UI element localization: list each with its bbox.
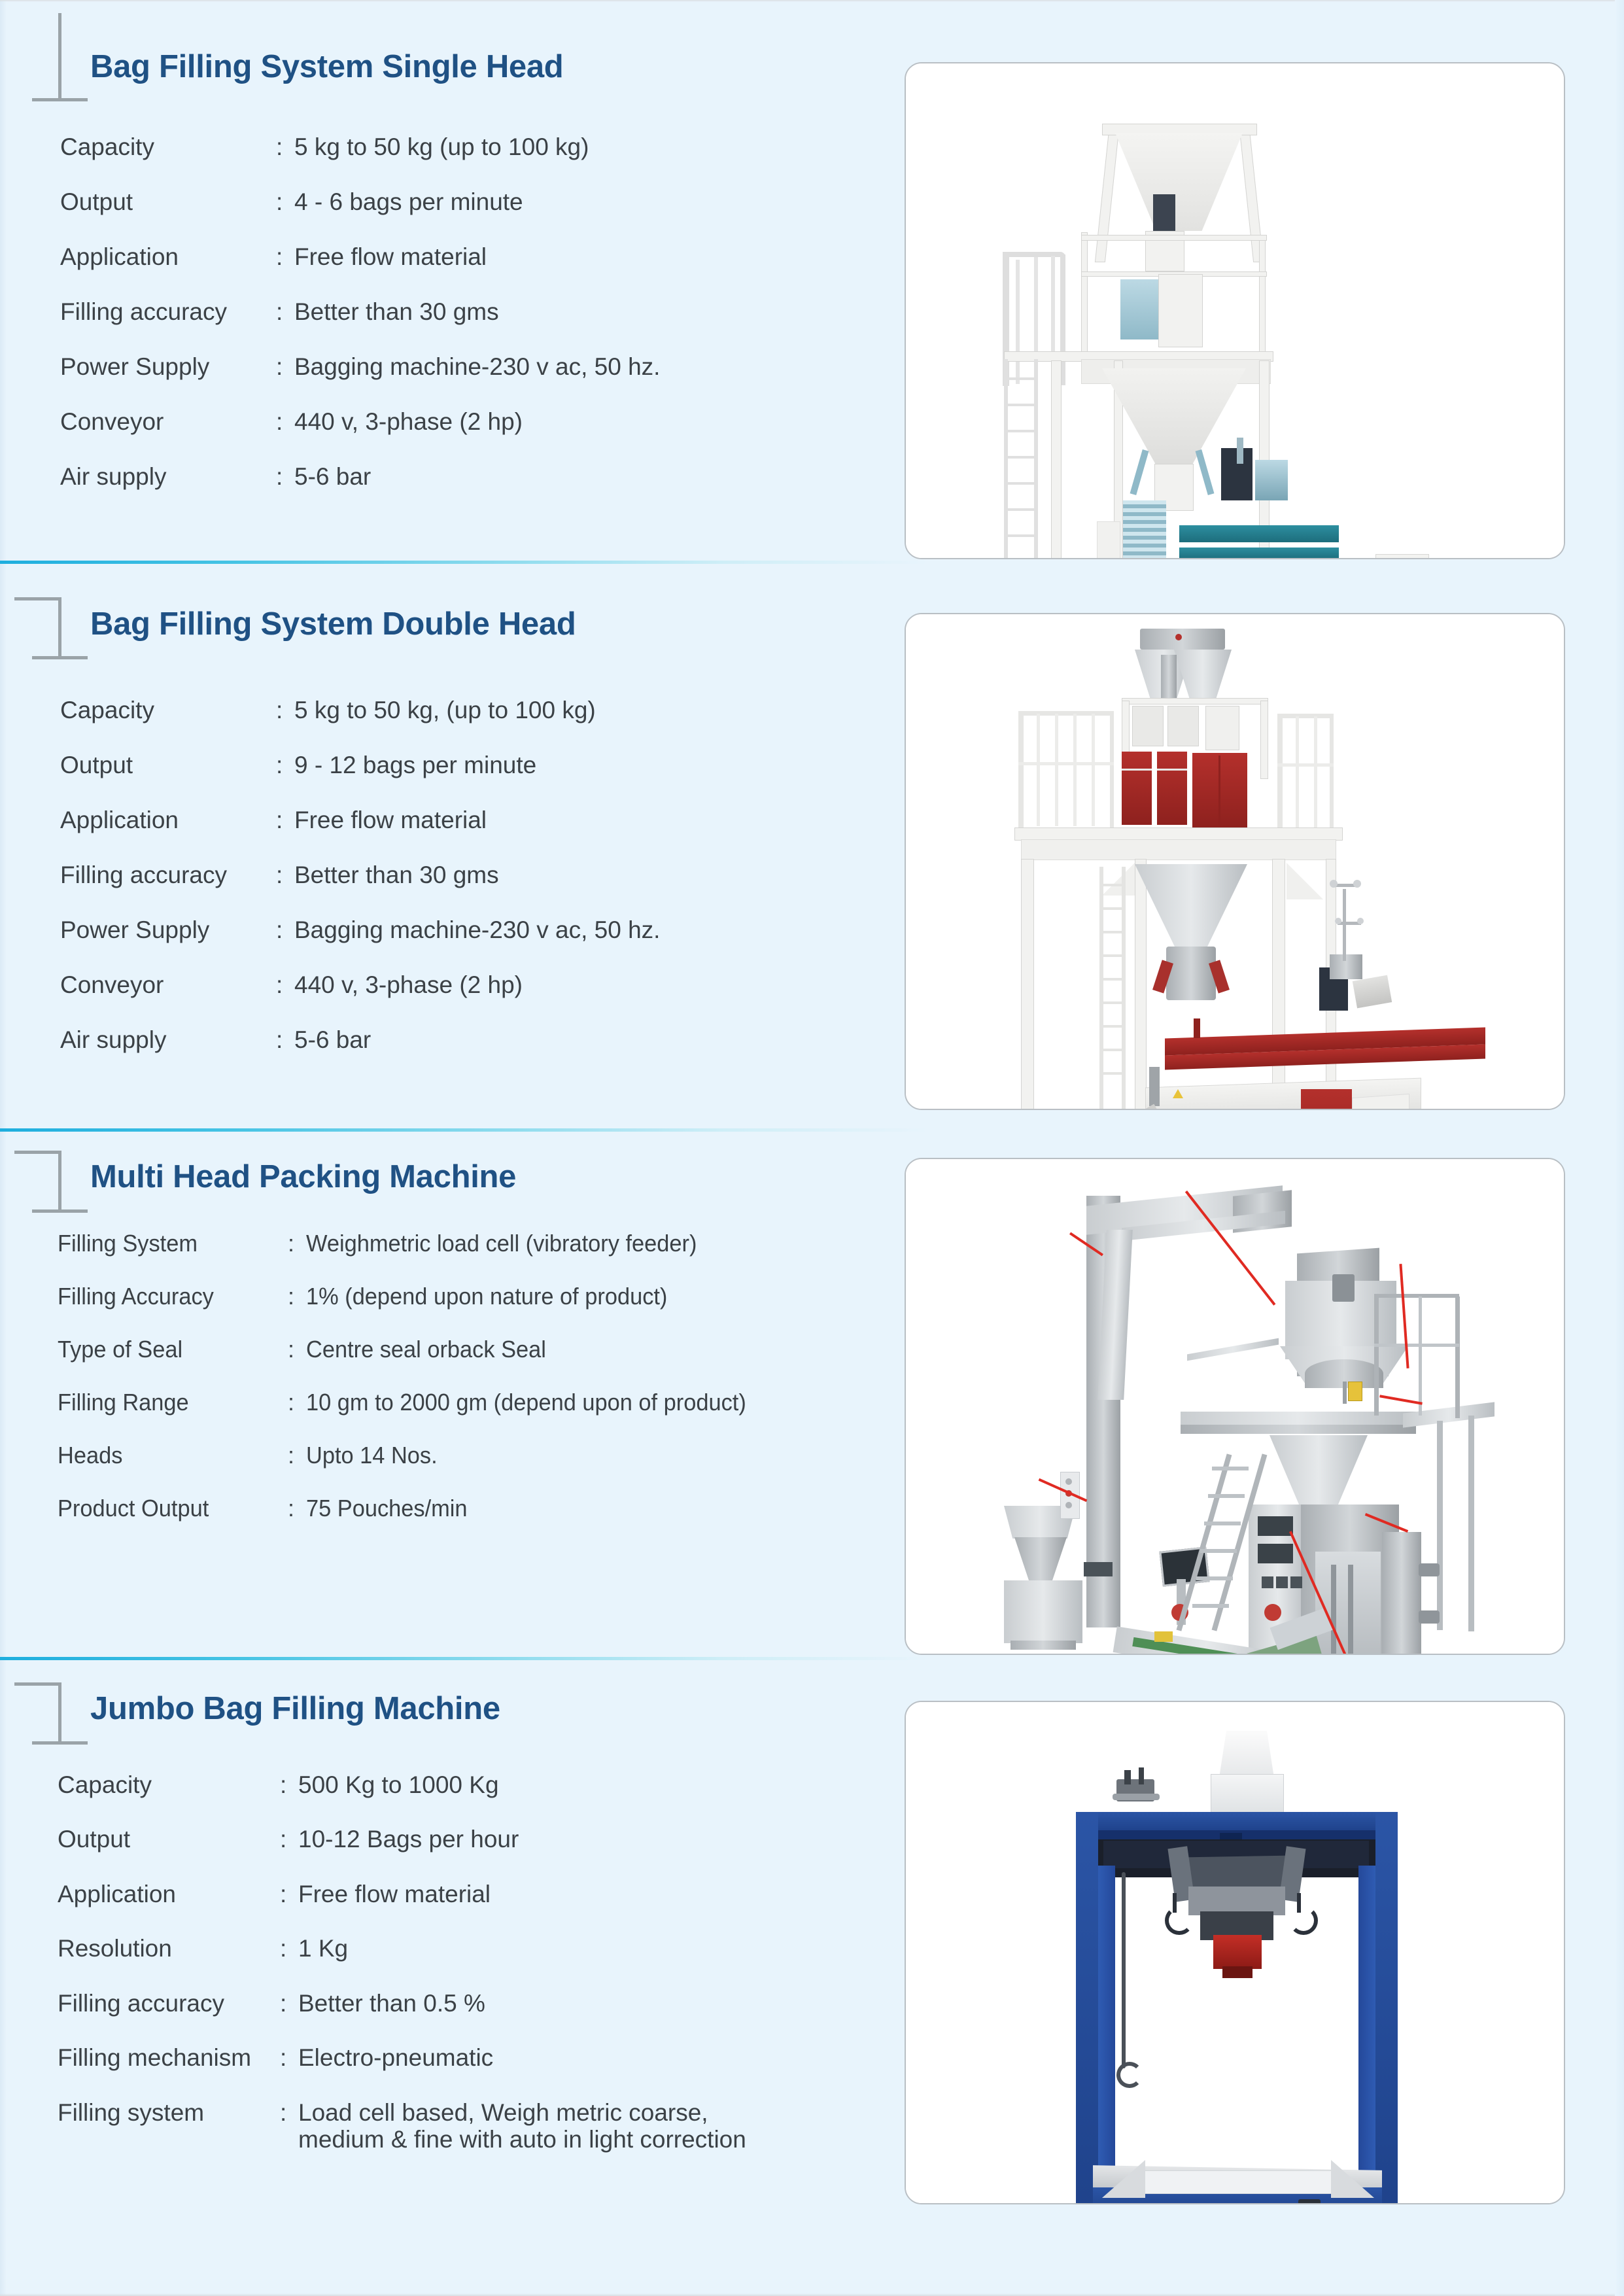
product-image-card bbox=[905, 613, 1565, 1110]
section-title: Bag Filling System Double Head bbox=[90, 608, 576, 640]
spec-value: Weighmetric load cell (vibratory feeder) bbox=[306, 1232, 924, 1255]
spec-colon: : bbox=[288, 1338, 306, 1361]
product-photo-multi-head bbox=[906, 1159, 1564, 1654]
spec-row: Filling Range : 10 gm to 2000 gm (depend… bbox=[58, 1391, 954, 1414]
spec-label: Air supply bbox=[60, 464, 276, 489]
spec-value: Bagging machine-230 v ac, 50 hz. bbox=[294, 918, 956, 942]
spec-value: 5 kg to 50 kg, (up to 100 kg) bbox=[294, 698, 956, 722]
page-top-hairline bbox=[0, 0, 1624, 2]
spec-row: Capacity : 500 Kg to 1000 Kg bbox=[58, 1771, 954, 1798]
spec-label: Filling accuracy bbox=[58, 1990, 280, 2017]
corner-bracket-icon bbox=[14, 1151, 93, 1216]
spec-row: Filling accuracy : Better than 30 gms bbox=[60, 863, 956, 887]
spec-label: Filling accuracy bbox=[60, 300, 276, 324]
spec-colon: : bbox=[276, 808, 294, 832]
spec-colon: : bbox=[280, 1771, 298, 1798]
spec-row: Type of Seal : Centre seal orback Seal bbox=[58, 1338, 954, 1361]
spec-value: Free flow material bbox=[298, 1881, 954, 1907]
spec-label: Filling System bbox=[58, 1232, 277, 1255]
spec-colon: : bbox=[276, 698, 294, 722]
spec-colon: : bbox=[280, 2099, 298, 2126]
corner-bracket-icon bbox=[14, 1682, 93, 1748]
product-image-card bbox=[905, 62, 1565, 559]
spec-colon: : bbox=[276, 135, 294, 159]
page-bottom-hairline bbox=[0, 2293, 1624, 2296]
spec-label: Output bbox=[60, 190, 276, 214]
spec-label: Product Output bbox=[58, 1497, 277, 1520]
spec-colon: : bbox=[288, 1391, 306, 1414]
spec-row: Heads : Upto 14 Nos. bbox=[58, 1444, 954, 1467]
spec-label: Power Supply bbox=[60, 918, 276, 942]
spec-row: Filling System : Weighmetric load cell (… bbox=[58, 1232, 954, 1255]
spec-label: Filling Accuracy bbox=[58, 1285, 277, 1308]
corner-bracket-icon bbox=[14, 597, 93, 663]
spec-row: Power Supply : Bagging machine-230 v ac,… bbox=[60, 918, 956, 942]
spec-label: Filling mechanism bbox=[58, 2044, 280, 2071]
spec-label: Filling Range bbox=[58, 1391, 277, 1414]
spec-label: Power Supply bbox=[60, 355, 276, 379]
spec-value: 440 v, 3-phase (2 hp) bbox=[294, 973, 956, 997]
spec-row: Application : Free flow material bbox=[58, 1881, 954, 1907]
spec-row: Conveyor : 440 v, 3-phase (2 hp) bbox=[60, 973, 956, 997]
spec-value: 5 kg to 50 kg (up to 100 kg) bbox=[294, 135, 956, 159]
spec-label: Output bbox=[60, 753, 276, 777]
spec-row: Output : 9 - 12 bags per minute bbox=[60, 753, 956, 777]
spec-list: Filling System : Weighmetric load cell (… bbox=[58, 1232, 954, 1550]
spec-row: Filling accuracy : Better than 0.5 % bbox=[58, 1990, 954, 2017]
spec-colon: : bbox=[276, 464, 294, 489]
spec-row: Capacity : 5 kg to 50 kg, (up to 100 kg) bbox=[60, 698, 956, 722]
spec-label: Capacity bbox=[60, 698, 276, 722]
spec-label: Conveyor bbox=[60, 973, 276, 997]
spec-value: Electro-pneumatic bbox=[298, 2044, 954, 2071]
section-separator bbox=[0, 1657, 929, 1660]
spec-label: Filling system bbox=[58, 2099, 280, 2126]
spec-label: Heads bbox=[58, 1444, 277, 1467]
spec-label: Output bbox=[58, 1826, 280, 1852]
spec-colon: : bbox=[280, 1935, 298, 1962]
spec-row: Air supply : 5-6 bar bbox=[60, 1028, 956, 1052]
spec-value: 75 Pouches/min bbox=[306, 1497, 924, 1520]
spec-colon: : bbox=[276, 918, 294, 942]
spec-label: Capacity bbox=[60, 135, 276, 159]
spec-list: Capacity : 5 kg to 50 kg, (up to 100 kg)… bbox=[60, 698, 956, 1083]
spec-colon: : bbox=[276, 190, 294, 214]
spec-row: Conveyor : 440 v, 3-phase (2 hp) bbox=[60, 409, 956, 434]
spec-row: Filling accuracy : Better than 30 gms bbox=[60, 300, 956, 324]
spec-colon: : bbox=[276, 300, 294, 324]
spec-row: Output : 4 - 6 bags per minute bbox=[60, 190, 956, 214]
spec-value: 5-6 bar bbox=[294, 1028, 956, 1052]
spec-colon: : bbox=[288, 1497, 306, 1520]
section-separator bbox=[0, 1128, 929, 1132]
product-image-card bbox=[905, 1701, 1565, 2204]
spec-colon: : bbox=[280, 1881, 298, 1907]
spec-row: Power Supply : Bagging machine-230 v ac,… bbox=[60, 355, 956, 379]
spec-colon: : bbox=[276, 245, 294, 269]
spec-list: Capacity : 500 Kg to 1000 Kg Output : 10… bbox=[58, 1771, 954, 2181]
spec-row: Product Output : 75 Pouches/min bbox=[58, 1497, 954, 1520]
spec-label: Conveyor bbox=[60, 409, 276, 434]
spec-row: Output : 10-12 Bags per hour bbox=[58, 1826, 954, 1852]
spec-value: 1 Kg bbox=[298, 1935, 954, 1962]
spec-value: 4 - 6 bags per minute bbox=[294, 190, 956, 214]
corner-bracket-icon bbox=[14, 39, 93, 105]
product-image-card bbox=[905, 1158, 1565, 1655]
spec-value: 9 - 12 bags per minute bbox=[294, 753, 956, 777]
spec-colon: : bbox=[288, 1232, 306, 1255]
spec-label: Filling accuracy bbox=[60, 863, 276, 887]
spec-colon: : bbox=[288, 1285, 306, 1308]
spec-label: Application bbox=[60, 808, 276, 832]
spec-value: 5-6 bar bbox=[294, 464, 956, 489]
section-title: Jumbo Bag Filling Machine bbox=[90, 1693, 500, 1725]
spec-label: Type of Seal bbox=[58, 1338, 277, 1361]
spec-value: Free flow material bbox=[294, 808, 956, 832]
spec-label: Capacity bbox=[58, 1771, 280, 1798]
spec-row: Application : Free flow material bbox=[60, 245, 956, 269]
spec-colon: : bbox=[280, 1826, 298, 1852]
spec-row: Filling Accuracy : 1% (depend upon natur… bbox=[58, 1285, 954, 1308]
spec-colon: : bbox=[276, 409, 294, 434]
spec-row: Filling mechanism : Electro-pneumatic bbox=[58, 2044, 954, 2071]
spec-value: Better than 0.5 % bbox=[298, 1990, 954, 2017]
spec-colon: : bbox=[276, 355, 294, 379]
spec-value: Better than 30 gms bbox=[294, 300, 956, 324]
spec-row: Capacity : 5 kg to 50 kg (up to 100 kg) bbox=[60, 135, 956, 159]
spec-value: 10-12 Bags per hour bbox=[298, 1826, 954, 1852]
page-title: Bag Filling System Single Head bbox=[90, 51, 563, 83]
spec-row: Filling system : Load cell based, Weigh … bbox=[58, 2099, 954, 2153]
spec-value: Free flow material bbox=[294, 245, 956, 269]
spec-value: 440 v, 3-phase (2 hp) bbox=[294, 409, 956, 434]
spec-value: 10 gm to 2000 gm (depend upon of product… bbox=[306, 1391, 924, 1414]
product-photo-single-head bbox=[906, 63, 1564, 558]
spec-colon: : bbox=[280, 1990, 298, 2017]
spec-row: Air supply : 5-6 bar bbox=[60, 464, 956, 489]
spec-list: Capacity : 5 kg to 50 kg (up to 100 kg) … bbox=[60, 135, 956, 519]
spec-row: Resolution : 1 Kg bbox=[58, 1935, 954, 1962]
spec-value: Upto 14 Nos. bbox=[306, 1444, 924, 1467]
spec-colon: : bbox=[276, 1028, 294, 1052]
spec-label: Application bbox=[58, 1881, 280, 1907]
section-separator bbox=[0, 561, 929, 564]
spec-value: 1% (depend upon nature of product) bbox=[306, 1285, 924, 1308]
spec-value: Better than 30 gms bbox=[294, 863, 956, 887]
catalog-page: Bag Filling System Single Head Capacity … bbox=[0, 0, 1624, 2296]
spec-value: 500 Kg to 1000 Kg bbox=[298, 1771, 954, 1798]
spec-colon: : bbox=[276, 863, 294, 887]
spec-colon: : bbox=[276, 753, 294, 777]
spec-value: Bagging machine-230 v ac, 50 hz. bbox=[294, 355, 956, 379]
spec-value: Centre seal orback Seal bbox=[306, 1338, 924, 1361]
spec-value: Load cell based, Weigh metric coarse, me… bbox=[298, 2099, 954, 2153]
spec-colon: : bbox=[288, 1444, 306, 1467]
spec-colon: : bbox=[276, 973, 294, 997]
section-title: Multi Head Packing Machine bbox=[90, 1161, 516, 1193]
spec-label: Application bbox=[60, 245, 276, 269]
product-photo-jumbo-bag bbox=[906, 1702, 1564, 2203]
spec-colon: : bbox=[280, 2044, 298, 2071]
spec-row: Application : Free flow material bbox=[60, 808, 956, 832]
spec-label: Resolution bbox=[58, 1935, 280, 1962]
product-photo-double-head bbox=[906, 614, 1564, 1109]
spec-label: Air supply bbox=[60, 1028, 276, 1052]
